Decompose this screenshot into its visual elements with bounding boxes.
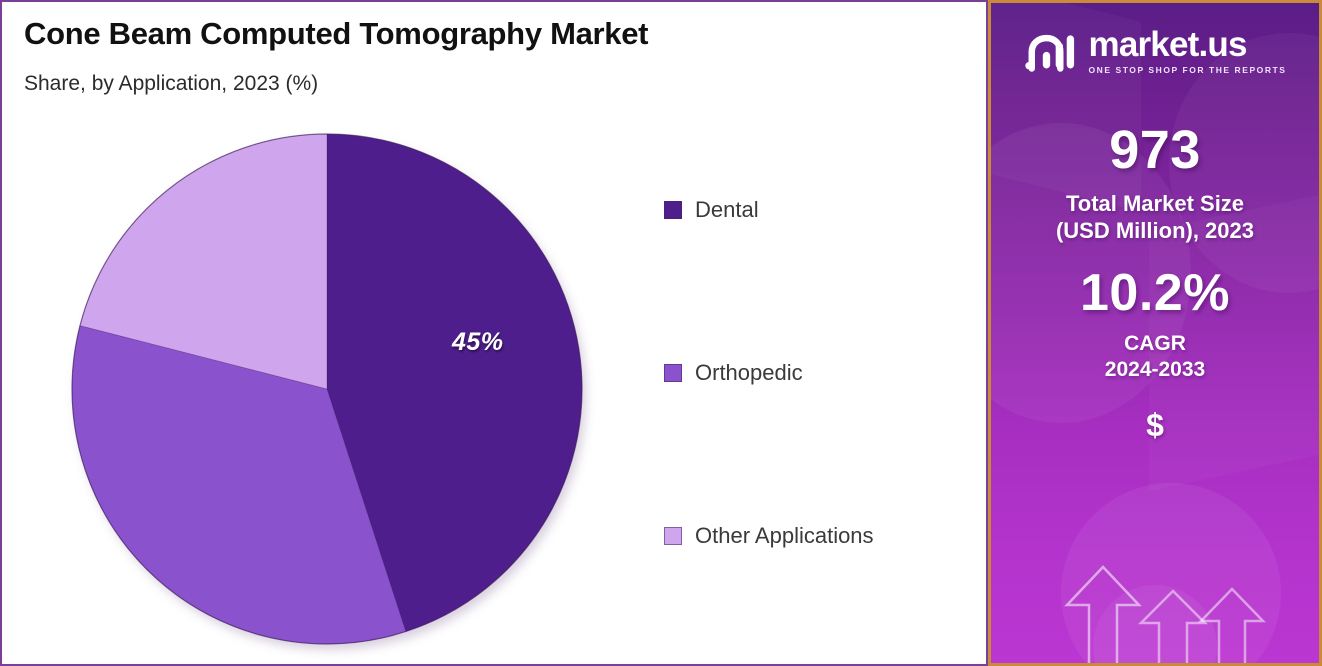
- page-subtitle: Share, by Application, 2023 (%): [24, 72, 318, 96]
- legend-item-other-applications[interactable]: Other Applications: [664, 518, 964, 554]
- legend-label: Dental: [695, 197, 759, 223]
- pie-slice-label-dental: 45%: [452, 328, 504, 357]
- legend-swatch-icon: [664, 364, 682, 382]
- legend-item-orthopedic[interactable]: Orthopedic: [664, 355, 964, 391]
- stat-panel: market.us ONE STOP SHOP FOR THE REPORTS …: [988, 0, 1322, 666]
- market-size-caption-line1: Total Market Size: [991, 191, 1319, 218]
- cagr-caption: CAGR 2024-2033: [991, 331, 1319, 384]
- up-arrows-icon: [991, 547, 1322, 666]
- legend-swatch-icon: [664, 527, 682, 545]
- legend: Dental Orthopedic Other Applications: [664, 192, 964, 554]
- pie-svg: [70, 132, 586, 648]
- cagr-value: 10.2%: [991, 267, 1319, 319]
- page-title: Cone Beam Computed Tomography Market: [24, 16, 648, 52]
- market-size-caption-line2: (USD Million), 2023: [991, 218, 1319, 245]
- market-size-caption: Total Market Size (USD Million), 2023: [991, 191, 1319, 245]
- brand-tagline: ONE STOP SHOP FOR THE REPORTS: [1089, 65, 1287, 75]
- brand-logo[interactable]: market.us ONE STOP SHOP FOR THE REPORTS: [991, 27, 1319, 75]
- market-us-logo-icon: [1024, 28, 1080, 74]
- cagr-caption-line1: CAGR: [991, 331, 1319, 357]
- infographic-root: Cone Beam Computed Tomography Market Sha…: [0, 0, 1322, 666]
- dollar-icon: $: [991, 409, 1319, 441]
- pie-chart: 45%: [70, 132, 586, 648]
- legend-item-dental[interactable]: Dental: [664, 192, 964, 228]
- legend-label: Other Applications: [695, 523, 874, 549]
- legend-swatch-icon: [664, 201, 682, 219]
- brand-text-block: market.us ONE STOP SHOP FOR THE REPORTS: [1089, 27, 1287, 75]
- market-size-value: 973: [991, 123, 1319, 177]
- brand-name: market.us: [1089, 27, 1287, 62]
- legend-label: Orthopedic: [695, 360, 803, 386]
- cagr-caption-line2: 2024-2033: [991, 357, 1319, 383]
- chart-panel: Cone Beam Computed Tomography Market Sha…: [0, 0, 988, 666]
